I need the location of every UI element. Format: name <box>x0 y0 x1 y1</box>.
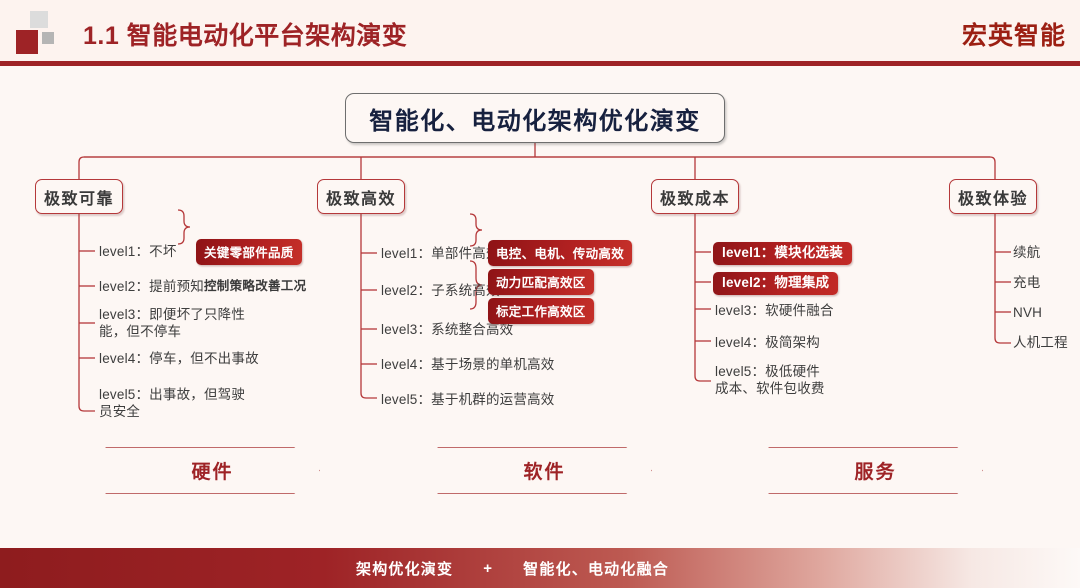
annotation-chip: 控制策略改善工况 <box>196 272 314 298</box>
annotation-chip[interactable]: 标定工作高效区 <box>488 298 594 324</box>
root-node[interactable]: 智能化、电动化架构优化演变 <box>345 93 725 143</box>
branch-node-cost[interactable]: 极致成本 <box>651 179 739 214</box>
leaf-item[interactable]: level4：极简架构 <box>715 334 820 351</box>
page-title: 1.1 智能电动化平台架构演变 <box>83 16 407 52</box>
leaf-item[interactable]: level3：即便坏了只降性 能，但不停车 <box>99 306 245 340</box>
branch-node-reliability[interactable]: 极致可靠 <box>35 179 123 214</box>
leaf-item[interactable]: 充电 <box>1013 274 1040 291</box>
branch-label: 极致可靠 <box>44 185 114 209</box>
footer-left-text: 架构优化演变 <box>356 558 453 579</box>
leaf-item[interactable]: level5：出事故，但驾驶 员安全 <box>99 386 245 420</box>
annotation-chip[interactable]: 动力匹配高效区 <box>488 269 594 295</box>
branch-label: 极致成本 <box>660 185 730 209</box>
brand-logo: 宏英智能 <box>962 16 1066 52</box>
branch-label: 极致高效 <box>326 185 396 209</box>
leaf-item[interactable]: level4：基于场景的单机高效 <box>381 356 554 373</box>
branch-label: 极致体验 <box>958 185 1028 209</box>
logo-decoration-icon <box>14 10 62 56</box>
chevron-label: 硬件 <box>191 457 233 484</box>
footer-right-text: 智能化、电动化融合 <box>523 558 669 579</box>
chevron-hardware[interactable]: 硬件 <box>105 447 320 494</box>
branch-node-efficiency[interactable]: 极致高效 <box>317 179 405 214</box>
leaf-item[interactable]: level5：基于机群的运营高效 <box>381 391 554 408</box>
branch-node-experience[interactable]: 极致体验 <box>949 179 1037 214</box>
page-footer: 架构优化演变 + 智能化、电动化融合 <box>0 548 1080 588</box>
root-node-label: 智能化、电动化架构优化演变 <box>369 101 701 136</box>
chevron-service[interactable]: 服务 <box>768 447 983 494</box>
logo-square-red <box>16 30 38 54</box>
leaf-item-highlighted[interactable]: level1：模块化选装 <box>713 242 852 265</box>
leaf-item[interactable]: level2：提前预知 <box>99 278 204 295</box>
chevron-label: 软件 <box>523 457 565 484</box>
leaf-item[interactable]: level5：极低硬件 成本、软件包收费 <box>715 363 825 397</box>
leaf-item-highlighted[interactable]: level2：物理集成 <box>713 272 838 295</box>
leaf-item[interactable]: level4：停车，但不出事故 <box>99 350 259 367</box>
leaf-item[interactable]: level1：不坏 <box>99 243 177 260</box>
leaf-item[interactable]: level2：子系统高效 <box>381 282 500 299</box>
leaf-item[interactable]: level3：软硬件融合 <box>715 302 834 319</box>
chevron-label: 服务 <box>854 457 896 484</box>
logo-square-gray-top <box>30 11 48 28</box>
page-header: 1.1 智能电动化平台架构演变 宏英智能 <box>0 0 1080 66</box>
diagram-canvas: 智能化、电动化架构优化演变 极致可靠 极致高效 极致成本 极致体验 level1… <box>0 66 1080 544</box>
logo-square-gray-small <box>42 32 54 44</box>
leaf-item[interactable]: level1：单部件高效 <box>381 245 500 262</box>
leaf-item[interactable]: 人机工程 <box>1013 334 1068 351</box>
annotation-chip[interactable]: 电控、电机、传动高效 <box>488 240 632 266</box>
leaf-item[interactable]: 续航 <box>1013 244 1040 261</box>
footer-plus-sign: + <box>483 560 493 577</box>
annotation-chip[interactable]: 关键零部件品质 <box>196 239 302 265</box>
chevron-software[interactable]: 软件 <box>437 447 652 494</box>
leaf-item[interactable]: NVH <box>1013 304 1042 321</box>
